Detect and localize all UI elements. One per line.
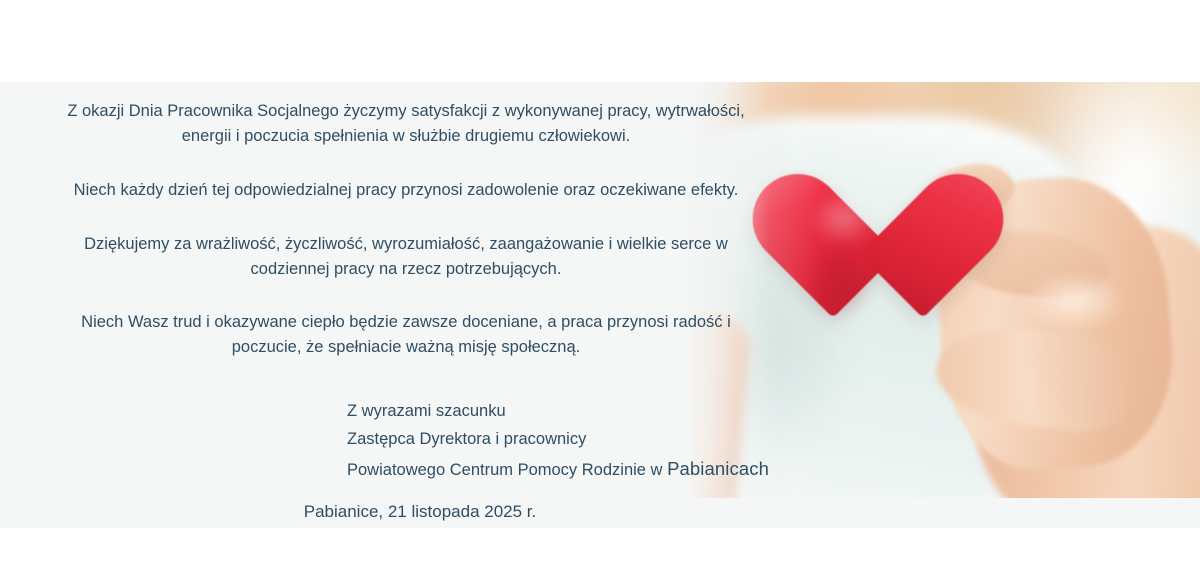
knuckle-highlight bbox=[1026, 276, 1146, 346]
signature-line-2: Zastępca Dyrektora i pracownicy bbox=[347, 425, 777, 453]
signature-line-3: Powiatowego Centrum Pomocy Rodzinie w Pa… bbox=[347, 453, 777, 485]
paragraph-4: Niech Wasz trud i okazywane ciepło będzi… bbox=[56, 282, 756, 360]
paragraph-1: Z okazji Dnia Pracownika Socjalnego życz… bbox=[56, 82, 756, 149]
signature-block: Z wyrazami szacunku Zastępca Dyrektora i… bbox=[347, 397, 777, 486]
letter-body: Z okazji Dnia Pracownika Socjalnego życz… bbox=[0, 82, 812, 485]
card-canvas: Z okazji Dnia Pracownika Socjalnego życz… bbox=[0, 0, 1200, 580]
paragraph-3: Dziękujemy za wrażliwość, życzliwość, wy… bbox=[56, 203, 756, 282]
red-heart-icon bbox=[792, 172, 964, 344]
paragraph-2: Niech każdy dzień tej odpowiedzialnej pr… bbox=[56, 149, 756, 203]
signature-org: Powiatowego Centrum Pomocy Rodzinie w bbox=[347, 461, 667, 479]
date-line: Pabianice, 21 listopada 2025 r. bbox=[0, 502, 840, 522]
signature-line-1: Z wyrazami szacunku bbox=[347, 397, 777, 425]
signature-city: Pabianicach bbox=[667, 458, 769, 479]
greeting-card: Z okazji Dnia Pracownika Socjalnego życz… bbox=[0, 82, 1200, 528]
